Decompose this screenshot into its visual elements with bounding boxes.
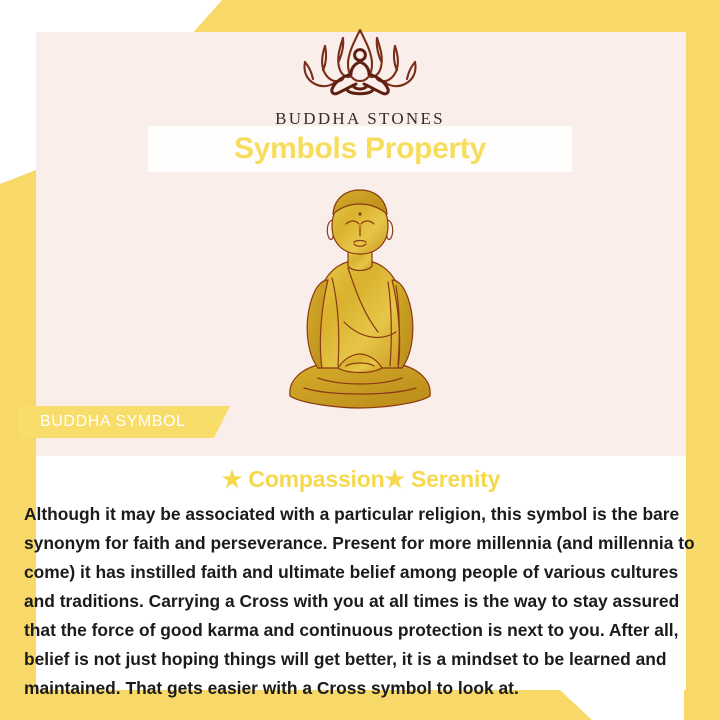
buddha-symbol-tag: BUDDHA SYMBOL — [18, 406, 230, 438]
title-banner: Symbols Property — [148, 126, 572, 172]
buddha-symbol-tag-label: BUDDHA SYMBOL — [18, 413, 186, 431]
page-title: Symbols Property — [234, 132, 486, 166]
section-body-text: Although it may be associated with a par… — [24, 500, 696, 703]
brand-block: BUDDHA STONES — [0, 24, 720, 129]
poster-root: BUDDHA STONES Symbols Property — [0, 0, 720, 720]
section-subheading: ★ Compassion★ Serenity — [36, 466, 686, 493]
lotus-meditation-icon — [285, 24, 435, 100]
golden-seated-buddha-statue — [260, 182, 460, 416]
